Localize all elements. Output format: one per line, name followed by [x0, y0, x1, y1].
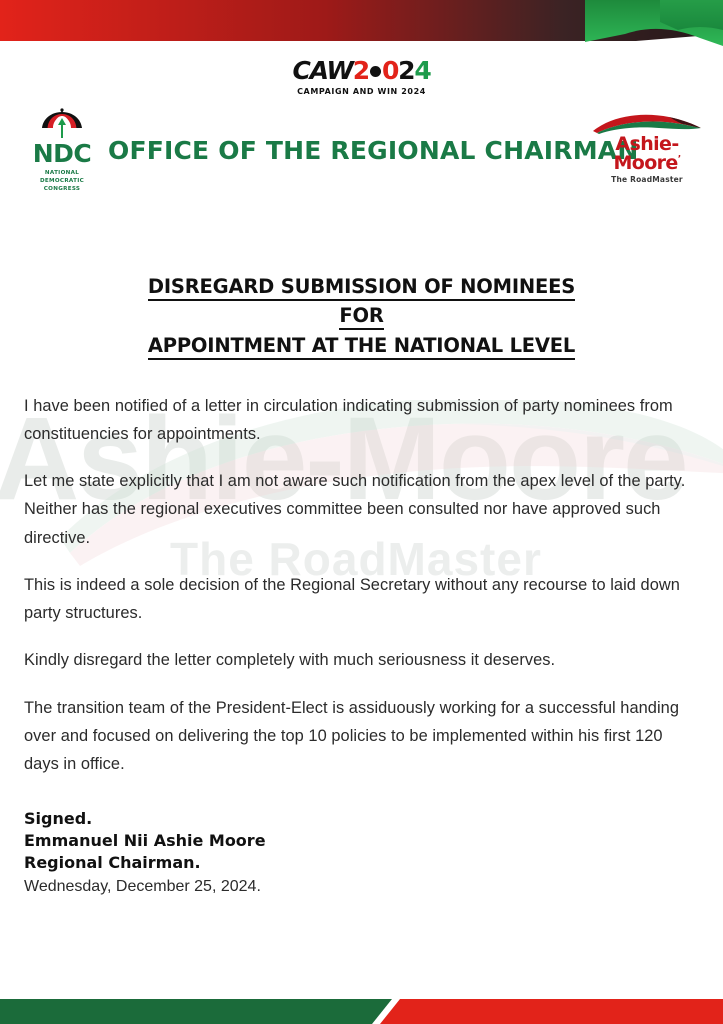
signature-block: Signed. Emmanuel Nii Ashie Moore Regiona… — [24, 808, 699, 898]
paragraph: The transition team of the President-Ele… — [24, 694, 699, 779]
registered-mark: ’ — [678, 155, 681, 165]
heading-line-1: DISREGARD SUBMISSION OF NOMINEES FOR — [148, 275, 575, 330]
caw-2024-logo: CAW2024 CAMPAIGN AND WIN 2024 — [0, 58, 723, 96]
bottom-banner-graphic — [0, 980, 723, 1024]
ndc-sub-line1: NATIONAL — [26, 169, 98, 177]
document-heading: DISREGARD SUBMISSION OF NOMINEES FOR APP… — [127, 272, 597, 360]
paragraph: I have been notified of a letter in circ… — [24, 392, 699, 448]
document-content: DISREGARD SUBMISSION OF NOMINEES FOR APP… — [24, 272, 699, 899]
swoosh-icon — [591, 112, 703, 134]
caw-digit-4: 4 — [414, 56, 430, 85]
ndc-sub-line3: CONGRESS — [26, 185, 98, 193]
caw-digit-2a: 2 — [353, 56, 369, 85]
top-decorative-banner — [0, 0, 723, 46]
bottom-decorative-banner — [0, 980, 723, 1024]
top-banner-graphic — [0, 0, 723, 46]
ndc-subtitle: NATIONAL DEMOCRATIC CONGRESS — [26, 169, 98, 193]
signature-date: Wednesday, December 25, 2024. — [24, 875, 699, 898]
heading-line-2: APPOINTMENT AT THE NATIONAL LEVEL — [148, 334, 575, 360]
caw-digit-0: 0 — [382, 56, 398, 85]
paragraph: Let me state explicitly that I am not aw… — [24, 467, 699, 552]
caw-tagline: CAMPAIGN AND WIN 2024 — [0, 87, 723, 96]
document-body: I have been notified of a letter in circ… — [24, 392, 699, 778]
ndc-logo: NDC NATIONAL DEMOCRATIC CONGRESS — [26, 108, 98, 193]
signatory-name: Emmanuel Nii Ashie Moore — [24, 830, 699, 852]
caw-wordmark: CAW2024 — [292, 58, 430, 83]
ashie-moore-tagline: The RoadMaster — [585, 175, 709, 184]
document-page: CAW2024 CAMPAIGN AND WIN 2024 NDC NATION… — [0, 0, 723, 1024]
paragraph: This is indeed a sole decision of the Re… — [24, 571, 699, 627]
caw-digit-2b: 2 — [398, 56, 414, 85]
office-title: OFFICE OF THE REGIONAL CHAIRMAN — [108, 136, 638, 165]
ndc-wordmark: NDC — [26, 141, 98, 166]
signatory-role: Regional Chairman. — [24, 852, 699, 874]
signed-label: Signed. — [24, 808, 699, 830]
caw-dot-icon — [370, 66, 381, 77]
ashie-moore-logo: Ashie-Moore’ The RoadMaster — [585, 112, 709, 184]
caw-letters: CAW — [292, 56, 352, 85]
umbrella-icon — [38, 108, 86, 140]
paragraph: Kindly disregard the letter completely w… — [24, 646, 699, 674]
ndc-sub-line2: DEMOCRATIC — [26, 177, 98, 185]
ashie-moore-text: Ashie-Moore — [613, 133, 678, 174]
ashie-moore-wordmark: Ashie-Moore’ — [585, 135, 709, 173]
